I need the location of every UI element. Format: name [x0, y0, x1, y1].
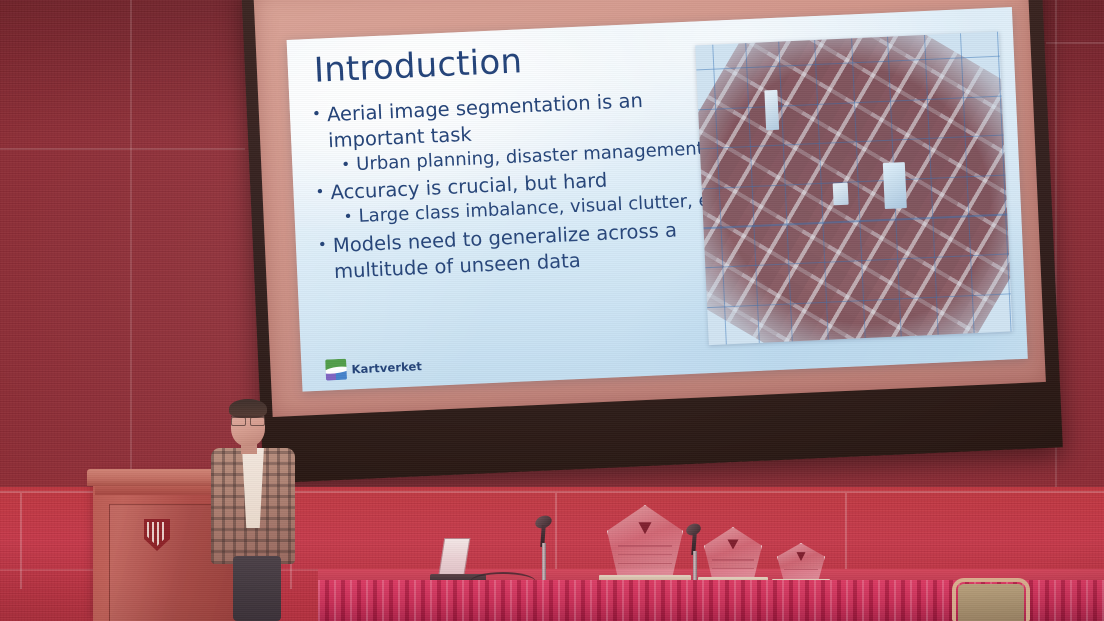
folding-chair	[952, 578, 1030, 621]
presentation-slide: Introduction • Aerial image segmentation…	[287, 7, 1028, 392]
trophy-award	[704, 527, 762, 579]
slide-title: Introduction	[313, 41, 523, 90]
microphone-stand	[531, 516, 555, 584]
projection-screen-frame: Introduction • Aerial image segmentation…	[241, 0, 1063, 483]
trophy-award	[607, 505, 683, 577]
bullet-icon: •	[341, 153, 357, 178]
plaid-shirt	[211, 448, 295, 564]
trousers	[233, 556, 281, 621]
cadastral-grid-overlay	[695, 32, 1012, 345]
bullet-icon: •	[315, 181, 331, 208]
glasses-icon	[231, 416, 265, 423]
building-highlight	[832, 183, 848, 206]
auditorium-photo: Introduction • Aerial image segmentation…	[0, 0, 1104, 621]
wall-panel-seam	[1046, 42, 1104, 44]
slide-bullet-list: • Aerial image segmentation is an import…	[311, 81, 749, 285]
presenter-speaker	[205, 398, 301, 621]
building-highlight	[883, 162, 907, 209]
building-highlight	[764, 90, 779, 131]
bullet-icon: •	[343, 205, 359, 230]
trophy-award	[777, 543, 825, 581]
aerial-city-figure	[695, 32, 1012, 345]
wall-panel-seam	[0, 148, 245, 150]
microphone-stand	[682, 524, 704, 584]
kartverket-logo: Kartverket	[325, 355, 422, 380]
kartverket-wordmark: Kartverket	[351, 359, 422, 376]
projection-screen-surround: Introduction • Aerial image segmentation…	[253, 0, 1045, 417]
kartverket-mark-icon	[325, 359, 347, 381]
